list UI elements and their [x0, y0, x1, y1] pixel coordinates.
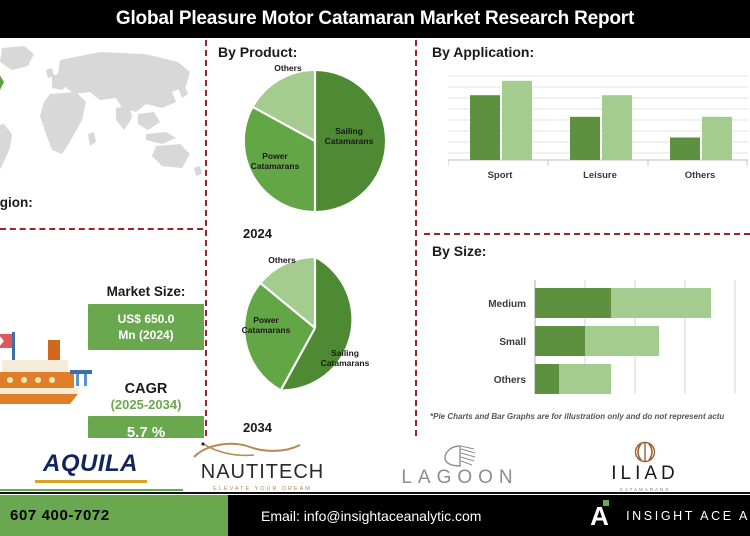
logo-nautitech: NAUTITECH ELEVATE YOUR DREAM: [175, 438, 350, 495]
by-application-heading: By Application:: [432, 44, 534, 60]
svg-text:Leisure: Leisure: [583, 170, 617, 180]
logo-nautitech-text: NAUTITECH: [201, 461, 324, 484]
title-bar: Global Pleasure Motor Catamaran Market R…: [0, 0, 750, 38]
logo-iliad: ILIAD CATAMARANS: [555, 438, 735, 495]
fastest-growing-region: wing Region: merica: [0, 195, 198, 227]
iliad-emblem-icon: [632, 441, 658, 463]
footer-rule: [0, 492, 750, 494]
brand-mark-square: [603, 500, 609, 506]
divider-vertical-right: [415, 40, 417, 436]
infographic-page: Global Pleasure Motor Catamaran Market R…: [0, 0, 750, 536]
world-map: [0, 42, 205, 182]
pie-2024-year: 2024: [243, 226, 272, 241]
region-value: merica: [0, 211, 198, 228]
pie-chart-2024: SailingCatamarans PowerCatamarans Others: [240, 66, 390, 216]
svg-text:Others: Others: [685, 170, 716, 180]
cagr-title: CAGR: [88, 381, 204, 397]
logo-aquila: AQUILA: [8, 438, 173, 495]
by-application-chart: Sport Leisure Others: [448, 70, 748, 180]
body-area: wing Region: merica: [0, 38, 750, 438]
footer-brand: A INSIGHT ACE A: [590, 495, 750, 536]
ship-icon: [0, 316, 102, 406]
page-title: Global Pleasure Motor Catamaran Market R…: [116, 8, 634, 30]
pie-2024-label-others: Others: [262, 63, 314, 73]
svg-text:Sport: Sport: [488, 170, 514, 180]
svg-text:Medium: Medium: [488, 299, 526, 310]
pie-2024-label-power: PowerCatamarans: [237, 151, 313, 171]
by-product-section: By Product: SailingCa: [210, 38, 415, 438]
chart-disclaimer: *Pie Charts and Bar Graphs are for illus…: [430, 412, 750, 421]
right-column: By Application:: [420, 38, 750, 438]
svg-text:Small: Small: [499, 337, 526, 348]
lagoon-shell-icon: [443, 445, 477, 467]
green-rule: [0, 489, 183, 491]
logo-lagoon-text: LAGOON: [401, 467, 518, 489]
by-size-chart: Medium Small Others: [440, 276, 740, 406]
market-size-title: Market Size:: [88, 284, 204, 299]
left-column: wing Region: merica: [0, 38, 205, 438]
market-size-value: US$ 650.0 Mn (2024): [88, 304, 204, 350]
pie-2024-label-sailing: SailingCatamarans: [318, 126, 380, 146]
by-product-heading: By Product:: [218, 44, 297, 60]
partner-logos: AQUILA NAUTITECH ELEVATE YOUR DREAM: [0, 438, 750, 495]
by-size-heading: By Size:: [432, 243, 486, 259]
divider-vertical-left: [205, 40, 207, 436]
pie-2034-label-power: PowerCatamarans: [228, 315, 304, 335]
footer-email[interactable]: Email: info@insightaceanalytic.com: [228, 495, 590, 536]
brand-name: INSIGHT ACE A: [626, 509, 750, 523]
market-size-block: Market Size: US$ 650.0 Mn (2024): [88, 284, 204, 350]
pie-2034-year: 2034: [243, 420, 272, 435]
footer-phone[interactable]: 607 400-7072: [0, 495, 228, 536]
logo-lagoon: LAGOON: [370, 438, 550, 495]
logo-iliad-text: ILIAD: [611, 463, 679, 485]
market-size-line1: US$ 650.0: [92, 311, 200, 327]
nautitech-swoosh-icon: [188, 441, 338, 461]
logo-aquila-text: AQUILA: [43, 450, 138, 478]
pie-chart-2034: SailingCatamarans PowerCatamarans Others: [240, 253, 390, 403]
cagr-years: (2025-2034): [88, 397, 204, 412]
svg-text:Others: Others: [494, 375, 527, 386]
market-size-line2: Mn (2024): [92, 327, 200, 343]
insightace-logo-icon: A: [590, 503, 612, 529]
footer-bar: 607 400-7072 Email: info@insightaceanaly…: [0, 495, 750, 536]
region-label: wing Region:: [0, 195, 198, 211]
pie-2034-label-others: Others: [256, 255, 308, 265]
logo-aquila-underline: [35, 480, 147, 483]
brand-mark-letter: A: [590, 503, 612, 529]
pie-2034-label-sailing: SailingCatamarans: [312, 348, 378, 368]
